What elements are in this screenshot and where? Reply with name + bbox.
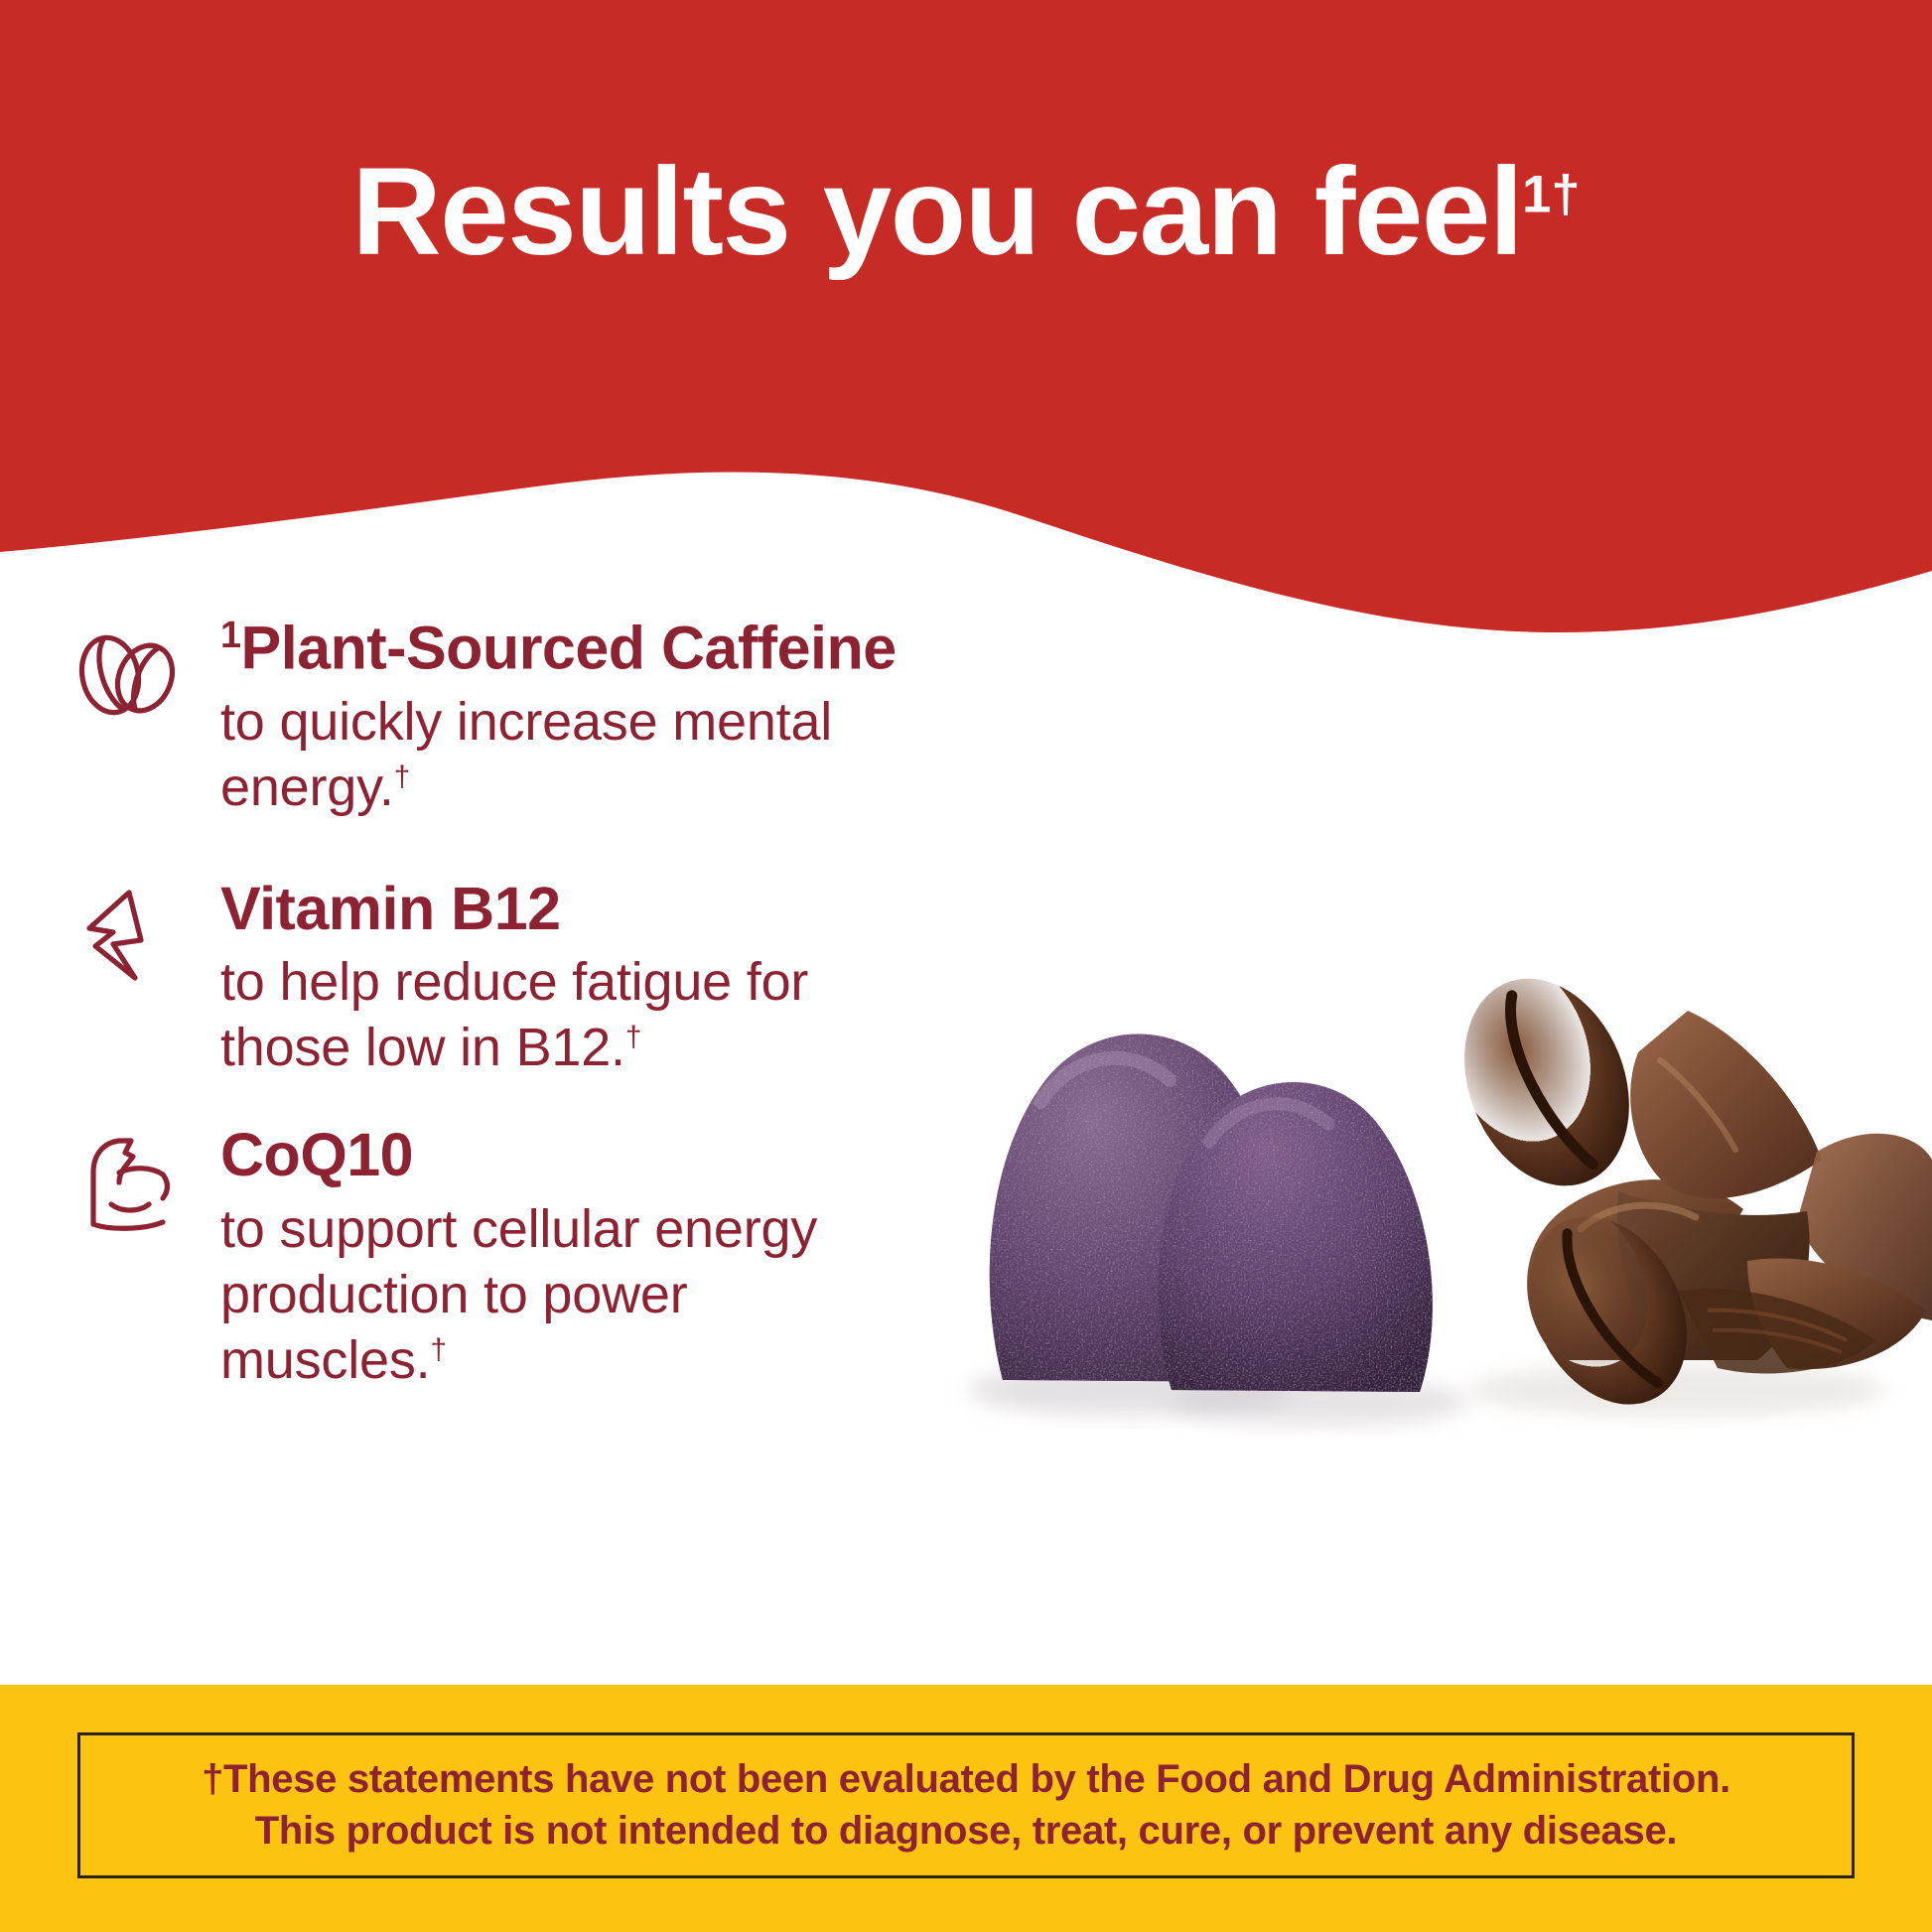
benefit-heading-superscript: 1: [220, 615, 241, 656]
gummy-back: [990, 1034, 1289, 1382]
disclaimer-line-2: This product is not intended to diagnose…: [202, 1806, 1730, 1857]
benefit-body-superscript: †: [394, 760, 410, 793]
page-title-superscript: 1†: [1522, 165, 1580, 223]
gummy-front: [1158, 1082, 1433, 1392]
benefit-heading-text: CoQ10: [220, 1121, 413, 1188]
benefit-body-text: to quickly increase mental energy.: [220, 692, 832, 817]
disclaimer-line-1: †These statements have not been evaluate…: [202, 1754, 1730, 1805]
red-wave-banner: [0, 0, 1932, 695]
product-image: [923, 894, 1932, 1449]
promo-card: Results you can feel1†: [0, 0, 1932, 1932]
benefit-heading-text: Plant-Sourced Caffeine: [241, 614, 897, 681]
disclaimer-band: †These statements have not been evaluate…: [0, 1685, 1932, 1932]
coffee-beans-icon: [69, 621, 179, 729]
lightning-bolt-icon: [69, 883, 179, 990]
benefit-heading: Vitamin B12: [220, 877, 993, 941]
benefit-item-caffeine: 1Plant-Sourced Caffeine to quickly incre…: [0, 616, 993, 821]
benefit-item-vitamin-b12: Vitamin B12 to help reduce fatigue for t…: [0, 877, 993, 1081]
benefit-heading: 1Plant-Sourced Caffeine: [220, 616, 993, 680]
benefit-body-superscript: †: [625, 1021, 641, 1053]
coffee-bean-lower: [1498, 1189, 1718, 1432]
benefit-heading: CoQ10: [220, 1123, 993, 1187]
benefit-body: to quickly increase mental energy.†: [220, 690, 856, 821]
benefit-heading-text: Vitamin B12: [220, 875, 561, 942]
benefit-body-superscript: †: [430, 1333, 446, 1366]
benefit-body: to support cellular energy production to…: [220, 1197, 856, 1394]
page-title-text: Results you can feel: [351, 143, 1522, 281]
benefits-list: 1Plant-Sourced Caffeine to quickly incre…: [0, 616, 993, 1393]
disclaimer-text: †These statements have not been evaluate…: [184, 1754, 1748, 1856]
benefit-body-text: to support cellular energy production to…: [220, 1199, 817, 1390]
flexed-bicep-icon: [69, 1129, 179, 1236]
coffee-bean-upper: [1435, 954, 1659, 1211]
page-title: Results you can feel1†: [0, 147, 1932, 277]
disclaimer-box: †These statements have not been evaluate…: [77, 1732, 1855, 1878]
benefit-item-coq10: CoQ10 to support cellular energy product…: [0, 1123, 993, 1393]
benefit-body-text: to help reduce fatigue for those low in …: [220, 952, 808, 1077]
benefit-body: to help reduce fatigue for those low in …: [220, 950, 856, 1081]
